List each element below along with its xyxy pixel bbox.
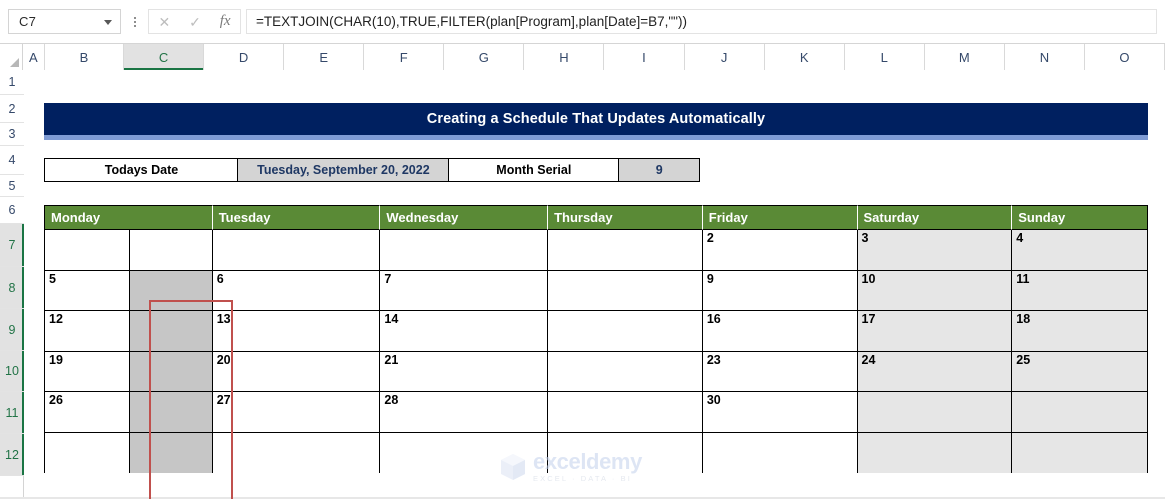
column-header-e[interactable]: E xyxy=(284,44,364,70)
calendar-week-row: 56791011 xyxy=(45,271,1147,312)
day-number xyxy=(858,392,862,432)
select-all-corner[interactable] xyxy=(0,44,23,70)
calendar-table: MondayTuesdayWednesdayThursdayFridaySatu… xyxy=(44,205,1148,473)
calendar-cell-saturday[interactable] xyxy=(858,433,1013,474)
formula-bar: C7 ✕ ✓ fx =TEXTJOIN(CHAR(10),TRUE,FILTER… xyxy=(0,0,1165,44)
day-number: 30 xyxy=(703,392,721,432)
calendar-cell-sunday[interactable] xyxy=(1012,433,1147,474)
row-header-10[interactable]: 10 xyxy=(0,351,24,392)
calendar-cell-friday[interactable]: 23 xyxy=(703,352,858,393)
close-icon[interactable]: ✕ xyxy=(158,15,170,29)
calendar-header-friday: Friday xyxy=(703,205,858,230)
day-number: 4 xyxy=(1012,230,1023,270)
dot xyxy=(134,21,136,23)
day-number xyxy=(548,230,552,270)
select-all-triangle-icon xyxy=(10,58,19,67)
column-header-row: ABCDEFGHIJKLMNO xyxy=(0,44,1165,70)
day-number xyxy=(1012,433,1016,474)
page-title: Creating a Schedule That Updates Automat… xyxy=(427,111,765,127)
dot xyxy=(134,17,136,19)
day-number xyxy=(45,230,49,232)
column-header-d[interactable]: D xyxy=(204,44,284,70)
day-number xyxy=(380,230,384,270)
calendar-day-number-cell[interactable] xyxy=(45,433,130,474)
calendar-cell-tuesday[interactable] xyxy=(213,230,381,271)
column-header-m[interactable]: M xyxy=(925,44,1005,70)
calendar-cell-sunday[interactable]: 11 xyxy=(1012,271,1147,312)
row-header-11[interactable]: 11 xyxy=(0,392,24,434)
day-number xyxy=(548,433,552,474)
day-number: 27 xyxy=(213,392,231,432)
day-number: 2 xyxy=(703,230,714,270)
calendar-program-cell[interactable] xyxy=(130,433,212,474)
calendar-cell-friday[interactable]: 2 xyxy=(703,230,858,271)
calendar-body: 2345679101112131416171819202123242526272… xyxy=(45,230,1147,473)
calendar-program-cell[interactable] xyxy=(130,271,212,311)
calendar-week-row xyxy=(45,433,1147,474)
column-header-g[interactable]: G xyxy=(444,44,524,70)
calendar-cell-wednesday[interactable]: 7 xyxy=(380,271,548,312)
todays-date-label: Todays Date xyxy=(44,158,239,182)
calendar-cell-monday[interactable]: 5 xyxy=(45,271,213,312)
calendar-header-saturday: Saturday xyxy=(858,205,1013,230)
row-header-8[interactable]: 8 xyxy=(0,267,24,309)
calendar-cell-thursday[interactable] xyxy=(548,433,703,474)
calendar-day-number-cell[interactable]: 26 xyxy=(45,392,130,432)
calendar-cell-monday[interactable]: 19 xyxy=(45,352,213,393)
day-number: 25 xyxy=(1012,352,1030,392)
calendar-header-wednesday: Wednesday xyxy=(380,205,548,230)
calendar-cell-saturday[interactable]: 24 xyxy=(858,352,1013,393)
column-header-a[interactable]: A xyxy=(23,44,45,70)
day-number: 21 xyxy=(380,352,398,392)
calendar-header-sunday: Sunday xyxy=(1012,205,1147,230)
calendar-cell-thursday[interactable] xyxy=(548,230,703,271)
calendar-cell-tuesday[interactable]: 6 xyxy=(213,271,381,312)
calendar-cell-tuesday[interactable]: 20 xyxy=(213,352,381,393)
calendar-weekday-header: MondayTuesdayWednesdayThursdayFridaySatu… xyxy=(45,205,1147,230)
calendar-day-number-cell[interactable]: 12 xyxy=(45,311,130,351)
day-number: 26 xyxy=(45,392,63,408)
calendar-cell-saturday[interactable]: 3 xyxy=(858,230,1013,271)
row-header-column: 123456789101112 xyxy=(0,70,24,499)
column-header-f[interactable]: F xyxy=(364,44,444,70)
calendar-header-thursday: Thursday xyxy=(548,205,703,230)
calendar-cell-thursday[interactable] xyxy=(548,392,703,433)
calendar-cell-monday[interactable]: 12 xyxy=(45,311,213,352)
day-number: 3 xyxy=(858,230,869,270)
day-number xyxy=(548,271,552,311)
todays-date-value[interactable]: Tuesday, September 20, 2022 xyxy=(237,158,449,182)
calendar-cell-thursday[interactable] xyxy=(548,311,703,352)
row-header-3[interactable]: 3 xyxy=(0,123,24,146)
worksheet-grid[interactable]: Creating a Schedule That Updates Automat… xyxy=(24,70,1165,499)
day-number: 17 xyxy=(858,311,876,351)
day-number: 19 xyxy=(45,352,63,368)
column-header-h[interactable]: H xyxy=(524,44,604,70)
column-header-l[interactable]: L xyxy=(845,44,925,70)
day-number: 24 xyxy=(858,352,876,392)
calendar-program-cell[interactable] xyxy=(130,230,212,270)
dot xyxy=(134,25,136,27)
calendar-cell-sunday[interactable] xyxy=(1012,392,1147,433)
calendar-week-row: 192021232425 xyxy=(45,352,1147,393)
name-box[interactable]: C7 xyxy=(8,9,121,34)
calendar-cell-monday[interactable]: 26 xyxy=(45,392,213,433)
day-number: 12 xyxy=(45,311,63,327)
calendar-cell-monday[interactable] xyxy=(45,230,213,271)
day-number: 5 xyxy=(45,271,56,287)
calendar-header-tuesday: Tuesday xyxy=(213,205,381,230)
day-number xyxy=(45,433,49,435)
day-number: 7 xyxy=(380,271,391,311)
row-header-4[interactable]: 4 xyxy=(0,146,24,175)
day-number: 13 xyxy=(213,311,231,351)
row-header-9[interactable]: 9 xyxy=(0,309,24,351)
calendar-program-cell[interactable] xyxy=(130,311,212,351)
calendar-cell-thursday[interactable] xyxy=(548,271,703,312)
calendar-cell-friday[interactable]: 30 xyxy=(703,392,858,433)
calendar-week-row: 234 xyxy=(45,230,1147,271)
confirm-icon[interactable]: ✓ xyxy=(189,15,201,29)
calendar-day-number-cell[interactable] xyxy=(45,230,130,270)
calendar-cell-saturday[interactable]: 17 xyxy=(858,311,1013,352)
day-number: 23 xyxy=(703,352,721,392)
month-serial-value[interactable]: 9 xyxy=(618,158,700,182)
row-header-5[interactable]: 5 xyxy=(0,175,24,197)
calendar-cell-monday[interactable] xyxy=(45,433,213,474)
day-number: 10 xyxy=(858,271,876,311)
calendar-week-row: 26272830 xyxy=(45,392,1147,433)
watermark-subtitle: EXCEL · DATA · BI xyxy=(533,475,642,483)
day-number xyxy=(548,392,552,432)
row-header-6[interactable]: 6 xyxy=(0,197,24,224)
calendar-cell-saturday[interactable] xyxy=(858,392,1013,433)
day-number: 11 xyxy=(1012,271,1029,311)
column-header-c[interactable]: C xyxy=(124,44,204,70)
calendar-cell-tuesday[interactable]: 13 xyxy=(213,311,381,352)
calendar-program-cell[interactable] xyxy=(130,352,212,392)
column-header-i[interactable]: I xyxy=(604,44,684,70)
calendar-cell-friday[interactable]: 9 xyxy=(703,271,858,312)
day-number: 9 xyxy=(703,271,714,311)
day-number: 20 xyxy=(213,352,231,392)
calendar-cell-wednesday[interactable]: 21 xyxy=(380,352,548,393)
day-number: 28 xyxy=(380,392,398,432)
calendar-cell-friday[interactable]: 16 xyxy=(703,311,858,352)
formula-input[interactable]: =TEXTJOIN(CHAR(10),TRUE,FILTER(plan[Prog… xyxy=(246,9,1157,34)
calendar-cell-tuesday[interactable]: 27 xyxy=(213,392,381,433)
calendar-cell-thursday[interactable] xyxy=(548,352,703,393)
day-number xyxy=(213,230,217,270)
column-header-j[interactable]: J xyxy=(685,44,765,70)
day-number: 6 xyxy=(213,271,224,311)
calendar-cell-tuesday[interactable] xyxy=(213,433,381,474)
column-header-k[interactable]: K xyxy=(765,44,845,70)
day-number: 14 xyxy=(380,311,398,351)
calendar-cell-sunday[interactable]: 18 xyxy=(1012,311,1147,352)
day-number xyxy=(703,433,707,474)
calendar-header-monday: Monday xyxy=(45,205,213,230)
calendar-day-number-cell[interactable]: 19 xyxy=(45,352,130,392)
insert-function-icon[interactable]: fx xyxy=(220,14,231,29)
row-header-2[interactable]: 2 xyxy=(0,95,24,123)
column-header-n[interactable]: N xyxy=(1005,44,1085,70)
day-number xyxy=(548,311,552,351)
calendar-cell-wednesday[interactable] xyxy=(380,230,548,271)
name-box-value: C7 xyxy=(9,14,36,29)
formula-controls: ✕ ✓ fx xyxy=(148,9,241,34)
calendar-cell-wednesday[interactable] xyxy=(380,433,548,474)
column-header-b[interactable]: B xyxy=(45,44,124,70)
calendar-cell-friday[interactable] xyxy=(703,433,858,474)
calendar-cell-saturday[interactable]: 10 xyxy=(858,271,1013,312)
day-number: 18 xyxy=(1012,311,1030,351)
day-number xyxy=(1012,392,1016,432)
info-row: Todays Date Tuesday, September 20, 2022 … xyxy=(44,158,699,182)
row-header-7[interactable]: 7 xyxy=(0,224,24,267)
month-serial-label: Month Serial xyxy=(448,158,620,182)
day-number xyxy=(548,352,552,392)
calendar-cell-sunday[interactable]: 4 xyxy=(1012,230,1147,271)
row-header-12[interactable]: 12 xyxy=(0,434,24,476)
day-number xyxy=(380,433,384,474)
banner-underline xyxy=(44,135,1148,140)
calendar-cell-wednesday[interactable]: 28 xyxy=(380,392,548,433)
calendar-cell-wednesday[interactable]: 14 xyxy=(380,311,548,352)
calendar-program-cell[interactable] xyxy=(130,392,212,432)
calendar-cell-sunday[interactable]: 25 xyxy=(1012,352,1147,393)
day-number xyxy=(858,433,862,474)
row-header-1[interactable]: 1 xyxy=(0,70,24,95)
column-header-o[interactable]: O xyxy=(1085,44,1165,70)
calendar-day-number-cell[interactable]: 5 xyxy=(45,271,130,311)
more-options-icon[interactable] xyxy=(124,9,146,34)
day-number: 16 xyxy=(703,311,721,351)
calendar-week-row: 121314161718 xyxy=(45,311,1147,352)
day-number xyxy=(213,433,217,474)
chevron-down-icon[interactable] xyxy=(104,20,112,25)
page-title-banner: Creating a Schedule That Updates Automat… xyxy=(44,103,1148,135)
